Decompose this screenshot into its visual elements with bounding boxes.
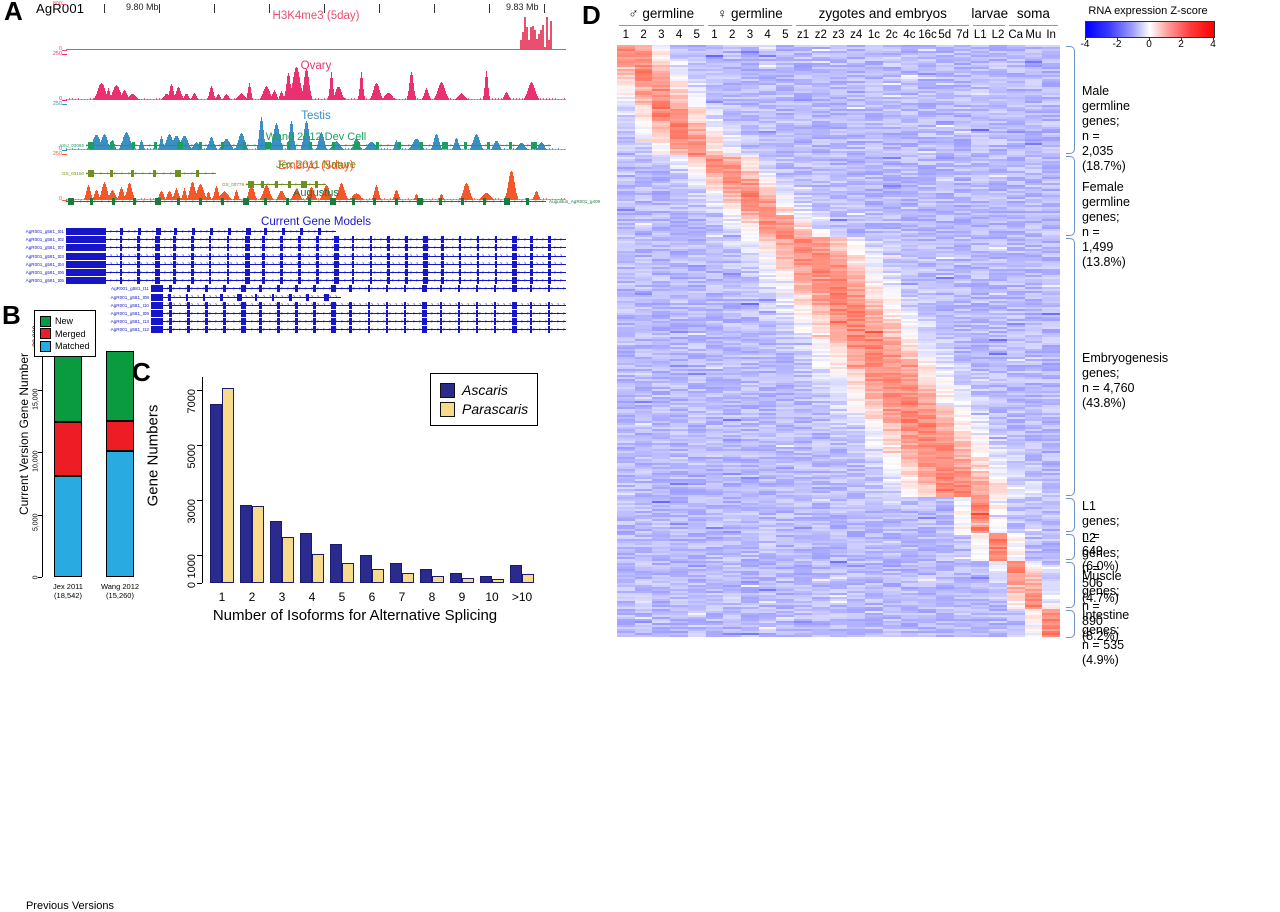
signal-noise xyxy=(315,149,316,150)
strand-arrow: › xyxy=(416,254,418,258)
signal-noise xyxy=(531,99,532,100)
exon-block xyxy=(169,318,172,325)
strand-arrow: › xyxy=(383,328,385,332)
strand-arrow: › xyxy=(173,312,175,316)
strand-arrow: › xyxy=(536,262,538,266)
exon-block xyxy=(494,302,497,309)
strand-arrow: › xyxy=(506,246,508,250)
strand-arrow: › xyxy=(239,287,241,291)
strand-arrow: › xyxy=(359,303,361,307)
strand-arrow: › xyxy=(407,312,409,316)
signal-noise xyxy=(384,98,385,100)
signal-noise xyxy=(399,99,400,100)
strand-arrow: › xyxy=(158,271,160,275)
strand-arrow: › xyxy=(458,279,460,283)
signal-noise xyxy=(498,149,499,150)
strand-arrow: › xyxy=(206,238,208,242)
signal-noise xyxy=(249,98,250,100)
signal-noise xyxy=(90,98,91,100)
bar xyxy=(222,388,234,583)
exon-block xyxy=(458,285,461,292)
strand-arrow: › xyxy=(413,287,415,291)
signal-noise xyxy=(498,98,499,100)
strand-arrow: › xyxy=(287,320,289,324)
strand-arrow: › xyxy=(341,320,343,324)
strand-arrow: › xyxy=(296,230,298,234)
exon-block xyxy=(102,236,105,243)
strand-arrow: › xyxy=(527,303,529,307)
strand-arrow: › xyxy=(440,238,442,242)
strand-arrow: › xyxy=(199,200,201,204)
y-tick-label: 10,000 xyxy=(33,451,40,487)
strand-arrow: › xyxy=(524,262,526,266)
strand-arrow: › xyxy=(338,271,340,275)
strand-arrow: › xyxy=(416,262,418,266)
signal-noise xyxy=(537,99,538,100)
strand-arrow: › xyxy=(121,172,123,176)
strand-arrow: › xyxy=(251,303,253,307)
strand-arrow: › xyxy=(409,200,411,204)
strand-arrow: › xyxy=(365,320,367,324)
gene-model-row: ››››››››››››››››››››››››››››››››››››››››… xyxy=(151,285,566,292)
strand-arrow: › xyxy=(434,279,436,283)
strand-arrow: › xyxy=(374,279,376,283)
strand-arrow: › xyxy=(140,246,142,250)
strand-arrow: › xyxy=(353,328,355,332)
strand-arrow: › xyxy=(272,238,274,242)
strand-arrow: › xyxy=(494,262,496,266)
strand-arrow: › xyxy=(332,254,334,258)
strand-arrow: › xyxy=(356,246,358,250)
strand-arrow: › xyxy=(392,279,394,283)
exon-block xyxy=(110,142,113,149)
strand-arrow: › xyxy=(248,230,250,234)
signal-noise xyxy=(303,99,304,100)
panel-b-legend: NewMergedMatched xyxy=(34,310,96,357)
signal-noise xyxy=(327,98,328,100)
strand-arrow: › xyxy=(176,230,178,234)
strand-arrow: › xyxy=(176,271,178,275)
strand-arrow: › xyxy=(347,303,349,307)
strand-arrow: › xyxy=(479,328,481,332)
strand-arrow: › xyxy=(311,287,313,291)
strand-arrow: › xyxy=(515,303,517,307)
strand-arrow: › xyxy=(308,271,310,275)
strand-arrow: › xyxy=(344,262,346,266)
bar xyxy=(462,578,474,583)
signal-noise xyxy=(159,98,160,100)
signal-noise xyxy=(372,149,373,150)
strand-arrow: › xyxy=(407,303,409,307)
heatmap-column-label: 3 xyxy=(741,29,759,41)
strand-arrow: › xyxy=(110,230,112,234)
strand-arrow: › xyxy=(269,320,271,324)
signal-noise xyxy=(288,98,289,100)
strand-arrow: › xyxy=(305,328,307,332)
signal-noise xyxy=(285,99,286,100)
strand-arrow: › xyxy=(347,312,349,316)
strand-arrow: › xyxy=(386,279,388,283)
signal-noise xyxy=(363,98,364,100)
exon-block xyxy=(280,244,283,251)
strand-arrow: › xyxy=(434,254,436,258)
legend-item: New xyxy=(40,316,90,327)
exon-block xyxy=(476,285,479,292)
exon-block xyxy=(169,285,172,292)
strand-arrow: › xyxy=(497,287,499,291)
signal-noise xyxy=(300,149,301,150)
exon-block xyxy=(90,198,93,205)
strand-arrow: › xyxy=(527,144,529,148)
strand-arrow: › xyxy=(425,287,427,291)
legend-item: Ascaris xyxy=(440,382,528,398)
strand-arrow: › xyxy=(221,312,223,316)
signal-noise xyxy=(399,149,400,150)
strand-arrow: › xyxy=(545,287,547,291)
strand-arrow: › xyxy=(338,262,340,266)
strand-arrow: › xyxy=(485,144,487,148)
heatmap-column-label: 4 xyxy=(670,29,688,41)
strand-arrow: › xyxy=(560,254,562,258)
strand-arrow: › xyxy=(380,271,382,275)
strand-arrow: › xyxy=(560,271,562,275)
strand-arrow: › xyxy=(242,262,244,266)
strand-arrow: › xyxy=(554,246,556,250)
strand-arrow: › xyxy=(164,279,166,283)
signal-noise xyxy=(420,99,421,100)
signal-noise xyxy=(486,99,487,100)
strand-arrow: › xyxy=(308,238,310,242)
strand-arrow: › xyxy=(314,262,316,266)
strand-arrow: › xyxy=(170,279,172,283)
heatmap-column-label: 7d xyxy=(954,29,972,41)
strand-arrow: › xyxy=(497,303,499,307)
exon-block xyxy=(316,244,319,251)
exon-block xyxy=(368,285,371,292)
strand-arrow: › xyxy=(281,295,283,299)
strand-arrow: › xyxy=(446,271,448,275)
strand-arrow: › xyxy=(245,328,247,332)
strand-arrow: › xyxy=(142,172,144,176)
strand-arrow: › xyxy=(368,279,370,283)
strand-arrow: › xyxy=(478,144,480,148)
strand-arrow: › xyxy=(452,271,454,275)
strand-arrow: › xyxy=(512,271,514,275)
strand-arrow: › xyxy=(293,303,295,307)
strand-arrow: › xyxy=(245,287,247,291)
signal-noise xyxy=(501,149,502,150)
signal-noise xyxy=(369,99,370,100)
strand-arrow: › xyxy=(374,262,376,266)
strand-arrow: › xyxy=(536,238,538,242)
strand-arrow: › xyxy=(398,262,400,266)
strand-arrow: › xyxy=(167,320,169,324)
strand-arrow: › xyxy=(245,303,247,307)
strand-arrow: › xyxy=(449,328,451,332)
y-tick-label: 7000 xyxy=(186,389,198,427)
strand-arrow: › xyxy=(240,144,242,148)
strand-arrow: › xyxy=(213,200,215,204)
strand-arrow: › xyxy=(542,238,544,242)
strand-arrow: › xyxy=(533,328,535,332)
strand-arrow: › xyxy=(416,238,418,242)
strand-arrow: › xyxy=(182,254,184,258)
signal-noise xyxy=(351,98,352,100)
strand-arrow: › xyxy=(536,246,538,250)
signal-noise xyxy=(189,99,190,100)
strand-arrow: › xyxy=(437,320,439,324)
strand-arrow: › xyxy=(338,279,340,283)
strand-arrow: › xyxy=(281,328,283,332)
strand-arrow: › xyxy=(539,287,541,291)
strand-arrow: › xyxy=(302,279,304,283)
exon-block xyxy=(223,318,226,325)
signal-noise xyxy=(264,98,265,100)
exon-block xyxy=(227,277,230,284)
strand-arrow: › xyxy=(302,254,304,258)
strand-arrow: › xyxy=(488,246,490,250)
signal-noise xyxy=(366,98,367,100)
exon-block xyxy=(458,326,461,333)
heatmap-column-label: 5 xyxy=(776,29,794,41)
strand-arrow: › xyxy=(206,271,208,275)
strand-arrow: › xyxy=(269,328,271,332)
gene-model-row: ››››››››››››››››››››››››››››››››››››››››… xyxy=(66,253,566,260)
strand-arrow: › xyxy=(110,271,112,275)
strand-arrow: › xyxy=(272,246,274,250)
strand-arrow: › xyxy=(329,312,331,316)
strand-arrow: › xyxy=(198,172,200,176)
gene-model-row: ›››››››››››››››››››››››››››››››››››››› xyxy=(66,228,336,235)
strand-arrow: › xyxy=(260,279,262,283)
strand-arrow: › xyxy=(299,295,301,299)
strand-arrow: › xyxy=(303,144,305,148)
exon-block xyxy=(458,302,461,309)
group-underline xyxy=(796,25,969,26)
strand-arrow: › xyxy=(446,246,448,250)
signal-noise xyxy=(75,149,76,150)
exon-block xyxy=(298,236,301,243)
signal-noise xyxy=(477,99,478,100)
exon-block xyxy=(205,326,208,333)
strand-arrow: › xyxy=(476,279,478,283)
strand-arrow: › xyxy=(536,254,538,258)
strand-arrow: › xyxy=(179,303,181,307)
strand-arrow: › xyxy=(425,320,427,324)
gene-model-row: ››››››››››››››››››››››››››››››››››››››››… xyxy=(151,326,566,333)
strand-arrow: › xyxy=(429,144,431,148)
strand-arrow: › xyxy=(266,262,268,266)
strand-arrow: › xyxy=(377,287,379,291)
panel-c: C Gene Numbers 01000300050007000 1234567… xyxy=(130,355,580,637)
strand-arrow: › xyxy=(164,238,166,242)
strand-arrow: › xyxy=(413,303,415,307)
signal-noise xyxy=(330,98,331,100)
strand-arrow: › xyxy=(263,320,265,324)
strand-arrow: › xyxy=(367,200,369,204)
strand-arrow: › xyxy=(308,230,310,234)
strand-arrow: › xyxy=(451,200,453,204)
strand-arrow: › xyxy=(146,254,148,258)
strand-arrow: › xyxy=(128,254,130,258)
panel-b-y-axis-label: Current Version Gene Number xyxy=(17,344,31,524)
strand-arrow: › xyxy=(440,271,442,275)
strand-arrow: › xyxy=(87,200,89,204)
strand-arrow: › xyxy=(371,303,373,307)
strand-arrow: › xyxy=(530,279,532,283)
strand-arrow: › xyxy=(242,271,244,275)
strand-arrow: › xyxy=(362,271,364,275)
strand-arrow: › xyxy=(560,279,562,283)
strand-arrow: › xyxy=(503,320,505,324)
strand-arrow: › xyxy=(488,254,490,258)
strand-arrow: › xyxy=(251,320,253,324)
strand-arrow: › xyxy=(515,287,517,291)
signal-noise xyxy=(456,99,457,100)
exon-block xyxy=(349,285,352,292)
signal-noise xyxy=(261,99,262,100)
strand-arrow: › xyxy=(200,271,202,275)
strand-arrow: › xyxy=(167,328,169,332)
strand-arrow: › xyxy=(335,287,337,291)
signal-noise xyxy=(414,99,415,100)
scale-dash xyxy=(62,4,67,5)
strand-arrow: › xyxy=(374,254,376,258)
strand-arrow: › xyxy=(116,254,118,258)
exon-block xyxy=(494,285,497,292)
strand-arrow: › xyxy=(275,287,277,291)
exon-block xyxy=(84,253,87,260)
legend-label: Merged xyxy=(55,329,86,339)
strand-arrow: › xyxy=(209,287,211,291)
strand-arrow: › xyxy=(350,254,352,258)
strand-arrow: › xyxy=(128,230,130,234)
signal-noise xyxy=(540,98,541,100)
signal-noise xyxy=(282,98,283,100)
strand-arrow: › xyxy=(488,238,490,242)
strand-arrow: › xyxy=(114,144,116,148)
strand-arrow: › xyxy=(472,200,474,204)
exon-block xyxy=(205,302,208,309)
strand-arrow: › xyxy=(293,287,295,291)
strand-arrow: › xyxy=(218,271,220,275)
strand-arrow: › xyxy=(383,320,385,324)
strand-arrow: › xyxy=(224,238,226,242)
strand-arrow: › xyxy=(431,303,433,307)
strand-arrow: › xyxy=(170,246,172,250)
strand-arrow: › xyxy=(332,262,334,266)
scale-dash xyxy=(62,54,67,55)
strand-arrow: › xyxy=(401,303,403,307)
strand-arrow: › xyxy=(503,303,505,307)
strand-arrow: › xyxy=(443,287,445,291)
strand-arrow: › xyxy=(230,230,232,234)
strand-arrow: › xyxy=(536,271,538,275)
exon-block xyxy=(227,253,230,260)
strand-arrow: › xyxy=(184,172,186,176)
strand-arrow: › xyxy=(140,271,142,275)
gene-model-label: AgR001_g581_t04 xyxy=(18,262,64,267)
strand-arrow: › xyxy=(455,328,457,332)
exon-block xyxy=(262,269,265,276)
strand-arrow: › xyxy=(503,328,505,332)
strand-arrow: › xyxy=(326,254,328,258)
strand-arrow: › xyxy=(287,328,289,332)
strand-arrow: › xyxy=(299,328,301,332)
strand-arrow: › xyxy=(431,320,433,324)
strand-arrow: › xyxy=(140,230,142,234)
strand-arrow: › xyxy=(365,287,367,291)
signal-noise xyxy=(294,99,295,100)
strand-arrow: › xyxy=(215,328,217,332)
legend-swatch xyxy=(40,328,51,339)
strand-arrow: › xyxy=(380,254,382,258)
strand-arrow: › xyxy=(185,320,187,324)
strand-arrow: › xyxy=(473,287,475,291)
signal-noise xyxy=(72,98,73,100)
strand-arrow: › xyxy=(227,320,229,324)
strand-arrow: › xyxy=(521,312,523,316)
bar xyxy=(372,569,384,583)
strand-arrow: › xyxy=(173,287,175,291)
strand-arrow: › xyxy=(386,262,388,266)
strand-arrow: › xyxy=(299,303,301,307)
strand-arrow: › xyxy=(428,254,430,258)
strand-arrow: › xyxy=(461,328,463,332)
strand-arrow: › xyxy=(335,312,337,316)
strand-arrow: › xyxy=(122,271,124,275)
exon-block xyxy=(209,269,212,276)
strand-arrow: › xyxy=(203,312,205,316)
strand-arrow: › xyxy=(129,200,131,204)
strand-arrow: › xyxy=(275,328,277,332)
exon-block xyxy=(280,236,283,243)
strand-arrow: › xyxy=(436,144,438,148)
strand-arrow: › xyxy=(352,144,354,148)
scale-dash xyxy=(62,100,67,101)
strand-arrow: › xyxy=(419,312,421,316)
exon-block xyxy=(352,236,355,243)
strand-arrow: › xyxy=(236,238,238,242)
exon-block xyxy=(352,261,355,268)
exon-block xyxy=(277,326,280,333)
exon-block xyxy=(262,261,265,268)
strand-arrow: › xyxy=(419,320,421,324)
intron-line xyxy=(66,201,546,202)
strand-arrow: › xyxy=(314,279,316,283)
gene-model-label: AgR001_g581_t02 xyxy=(18,237,64,242)
exon-block xyxy=(476,326,479,333)
signal-noise xyxy=(558,148,559,150)
exon-block xyxy=(476,318,479,325)
strand-arrow: › xyxy=(335,320,337,324)
signal-noise xyxy=(132,149,133,150)
strand-arrow: › xyxy=(326,230,328,234)
strand-arrow: › xyxy=(230,271,232,275)
strand-arrow: › xyxy=(158,279,160,283)
signal-noise xyxy=(198,149,199,150)
strand-arrow: › xyxy=(377,320,379,324)
strand-arrow: › xyxy=(200,246,202,250)
strand-arrow: › xyxy=(218,230,220,234)
strand-arrow: › xyxy=(329,295,331,299)
strand-arrow: › xyxy=(167,303,169,307)
strand-arrow: › xyxy=(563,312,565,316)
signal-noise xyxy=(333,99,334,100)
strand-arrow: › xyxy=(431,328,433,332)
signal-noise xyxy=(543,98,544,100)
strand-arrow: › xyxy=(284,238,286,242)
